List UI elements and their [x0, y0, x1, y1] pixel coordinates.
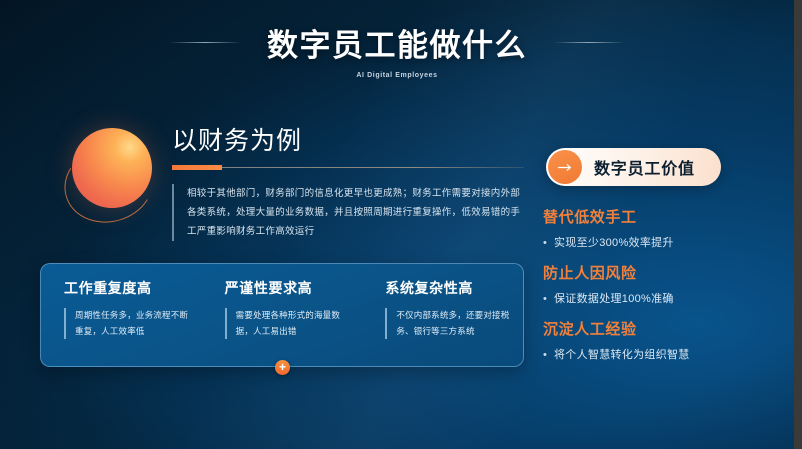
value-pill-badge: 数字员工价值 — [546, 148, 721, 186]
pain-point-card: 工作重复度高 周期性任务多，业务流程不断重复，人工效率低 — [41, 278, 202, 366]
card-description: 周期性任务多，业务流程不断重复，人工效率低 — [64, 308, 194, 339]
value-heading: 防止人因风险 — [543, 262, 793, 283]
title-rule-left — [169, 42, 241, 43]
title-rule-right — [553, 42, 625, 43]
slide-header: 数字员工能做什么 AI Digital Employees — [0, 20, 794, 79]
card-description: 需要处理各种形式的海量数据，人工易出错 — [225, 308, 355, 339]
section-block: 以财务为例 相较于其他部门，财务部门的信息化更早也更成熟；财务工作需要对接内外部… — [172, 126, 524, 241]
card-title: 系统复杂性高 — [385, 278, 515, 298]
card-title: 严谨性要求高 — [225, 278, 355, 298]
value-pill-label: 数字员工价值 — [594, 155, 695, 179]
value-group: 沉淀人工经验 • 将个人智慧转化为组织智慧 — [543, 318, 793, 362]
value-item-text: 保证数据处理100%准确 — [554, 290, 674, 306]
title-row: 数字员工能做什么 — [0, 20, 794, 65]
section-paragraph: 相较于其他部门，财务部门的信息化更早也更成熟；财务工作需要对接内外部各类系统，处… — [172, 184, 524, 241]
sphere-graphic — [64, 128, 168, 232]
bullet-icon: • — [543, 349, 554, 361]
value-item-text: 实现至少300%效率提升 — [554, 234, 674, 250]
bullet-icon: • — [543, 237, 554, 249]
card-title: 工作重复度高 — [64, 278, 194, 298]
value-heading: 沉淀人工经验 — [543, 318, 793, 339]
value-group: 防止人因风险 • 保证数据处理100%准确 — [543, 262, 793, 306]
page-title: 数字员工能做什么 — [267, 20, 527, 65]
value-list-item: • 保证数据处理100%准确 — [543, 290, 793, 306]
divider-accent-bar — [172, 165, 222, 170]
value-heading: 替代低效手工 — [543, 206, 793, 227]
right-edge-strip — [794, 0, 802, 449]
value-list-item: • 实现至少300%效率提升 — [543, 234, 793, 250]
value-item-text: 将个人智慧转化为组织智慧 — [554, 346, 690, 362]
page-subtitle: AI Digital Employees — [0, 72, 794, 79]
value-group: 替代低效手工 • 实现至少300%效率提升 — [543, 206, 793, 250]
plus-icon: + — [275, 360, 290, 375]
pain-point-card: 系统复杂性高 不仅内部系统多，还要对接税务、银行等三方系统 — [362, 278, 523, 366]
pain-points-panel: 工作重复度高 周期性任务多，业务流程不断重复，人工效率低 严谨性要求高 需要处理… — [40, 263, 524, 367]
card-description: 不仅内部系统多，还要对接税务、银行等三方系统 — [385, 308, 515, 339]
section-divider — [172, 167, 524, 168]
section-title: 以财务为例 — [172, 126, 524, 157]
arrow-right-icon — [548, 150, 582, 184]
bullet-icon: • — [543, 293, 554, 305]
slide-canvas: 数字员工能做什么 AI Digital Employees 以财务为例 相较于其… — [0, 0, 794, 449]
pain-point-card: 严谨性要求高 需要处理各种形式的海量数据，人工易出错 — [202, 278, 363, 366]
value-list-item: • 将个人智慧转化为组织智慧 — [543, 346, 793, 362]
value-list: 替代低效手工 • 实现至少300%效率提升 防止人因风险 • 保证数据处理100… — [543, 206, 793, 374]
